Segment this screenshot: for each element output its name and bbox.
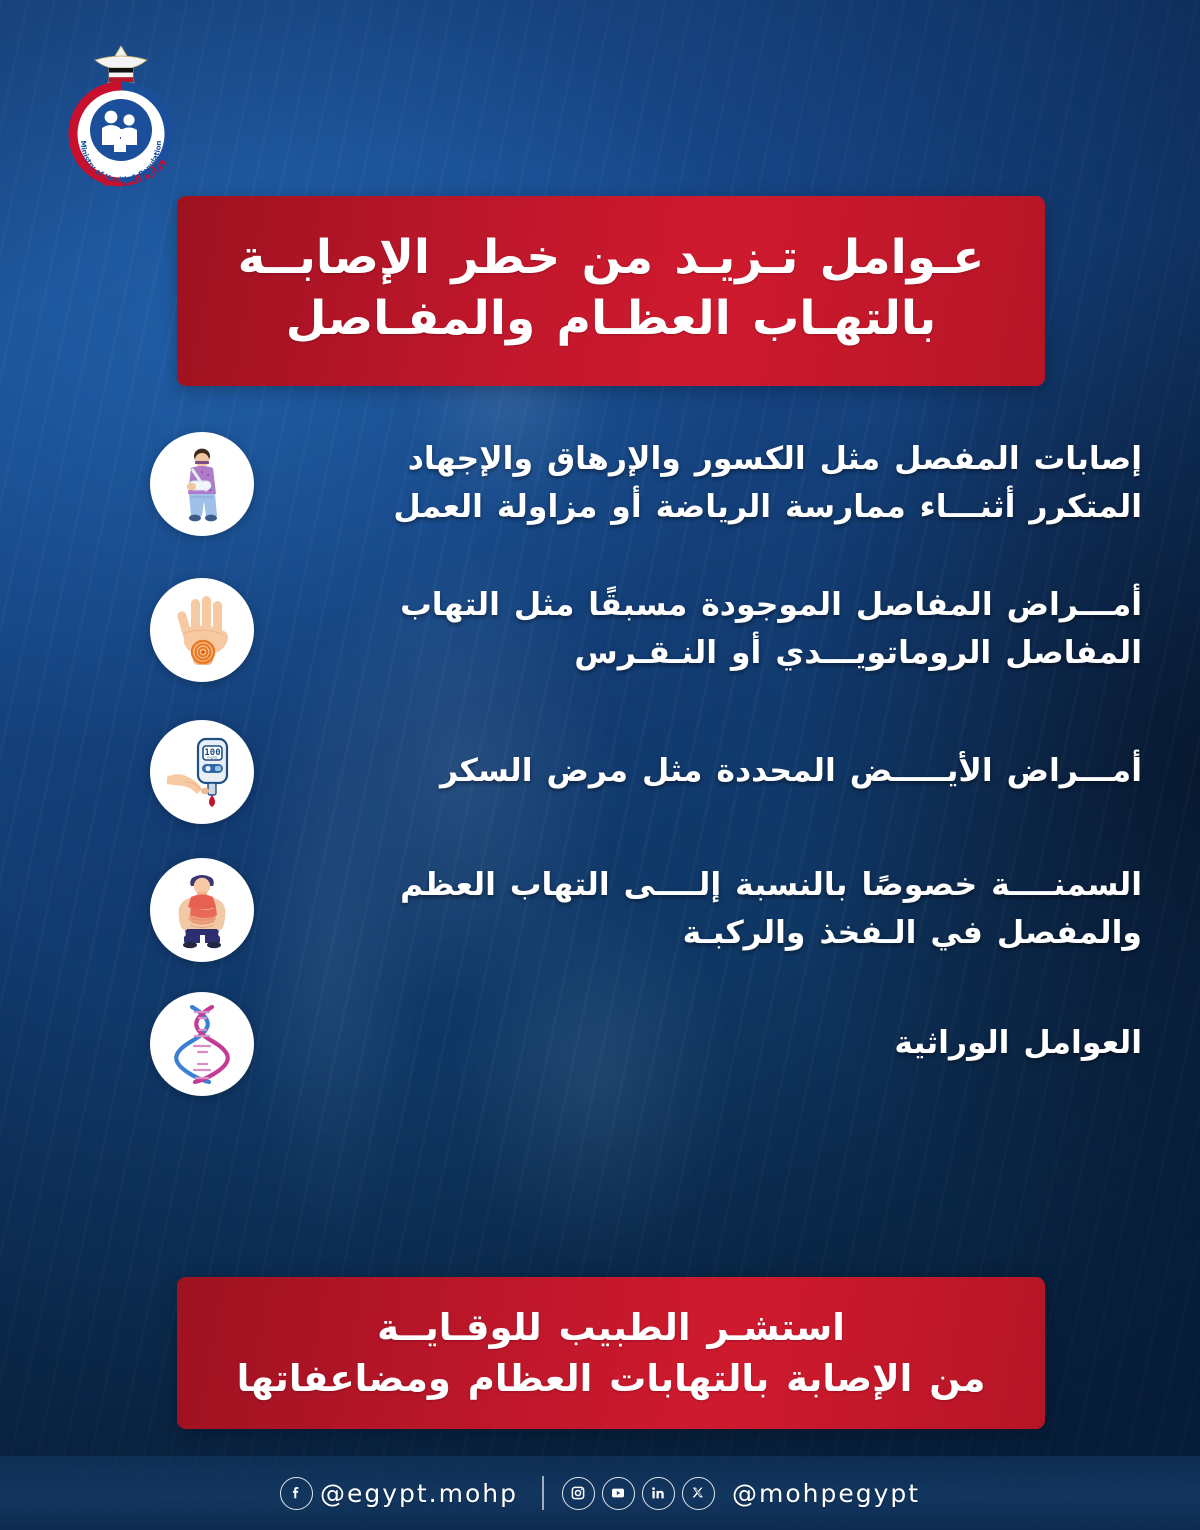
factor-text-joint-injuries: إصابات المفصل مثل الكسور والإرهاق والإجه… bbox=[280, 436, 1142, 532]
list-item: أمـــراض الأيـــــض المحددة مثل مرض السك… bbox=[150, 720, 1142, 824]
facebook-icon[interactable] bbox=[280, 1477, 313, 1510]
instagram-icon[interactable] bbox=[562, 1477, 595, 1510]
facebook-handle[interactable]: @egypt.mohp bbox=[320, 1479, 518, 1508]
social-footer: @egypt.mohp bbox=[0, 1456, 1200, 1530]
x-twitter-icon[interactable] bbox=[682, 1477, 715, 1510]
factor-text-obesity: السمنــــة خصوصًا بالنسبة إلــــى التهاب… bbox=[280, 862, 1142, 958]
list-item: أمـــراض المفاصل الموجودة مسبقًا مثل الت… bbox=[150, 578, 1142, 682]
glucometer-icon: 100 mg/dL bbox=[150, 720, 254, 824]
list-item: إصابات المفصل مثل الكسور والإرهاق والإجه… bbox=[150, 432, 1142, 536]
ministry-logo: Ministry of Health & Population وزارة ال… bbox=[55, 38, 187, 188]
shared-handle[interactable]: @mohpegypt bbox=[732, 1479, 920, 1508]
dna-helix-icon bbox=[150, 992, 254, 1096]
list-item: السمنــــة خصوصًا بالنسبة إلــــى التهاب… bbox=[150, 858, 1142, 962]
page-title: عـوامل تـزيـد من خطر الإصابــة بالتهـاب … bbox=[238, 227, 985, 349]
title-banner: عـوامل تـزيـد من خطر الإصابــة بالتهـاب … bbox=[177, 196, 1045, 386]
infographic-poster: Ministry of Health & Population وزارة ال… bbox=[0, 0, 1200, 1530]
factor-text-genetic-factors: العوامل الوراثية bbox=[280, 1020, 1142, 1068]
factor-text-metabolic-disease: أمـــراض الأيـــــض المحددة مثل مرض السك… bbox=[280, 748, 1142, 796]
risk-factor-list: إصابات المفصل مثل الكسور والإرهاق والإجه… bbox=[0, 432, 1200, 1110]
cta-line-1: استشـر الطبيب للوقـايــة bbox=[377, 1306, 845, 1349]
painful-hand-icon bbox=[150, 578, 254, 682]
title-line-2: بالتهـاب العظـام والمفـاصل bbox=[286, 291, 936, 346]
list-item: العوامل الوراثية bbox=[150, 992, 1142, 1096]
factor-text-pre-existing-joint-disease: أمـــراض المفاصل الموجودة مسبقًا مثل الت… bbox=[280, 582, 1142, 678]
cta-line-2: من الإصابة بالتهابات العظام ومضاعفاتها bbox=[237, 1357, 986, 1400]
person-arm-sling-icon bbox=[150, 432, 254, 536]
cta-banner: استشـر الطبيب للوقـايــة من الإصابة بالت… bbox=[177, 1277, 1045, 1429]
title-line-1: عـوامل تـزيـد من خطر الإصابــة bbox=[238, 230, 985, 285]
footer-divider bbox=[542, 1476, 544, 1510]
shared-social-icon-group bbox=[562, 1477, 722, 1510]
linkedin-icon[interactable] bbox=[642, 1477, 675, 1510]
obese-person-icon bbox=[150, 858, 254, 962]
svg-text:mg/dL: mg/dL bbox=[207, 756, 218, 760]
youtube-icon[interactable] bbox=[602, 1477, 635, 1510]
cta-text: استشـر الطبيب للوقـايــة من الإصابة بالت… bbox=[237, 1302, 986, 1404]
